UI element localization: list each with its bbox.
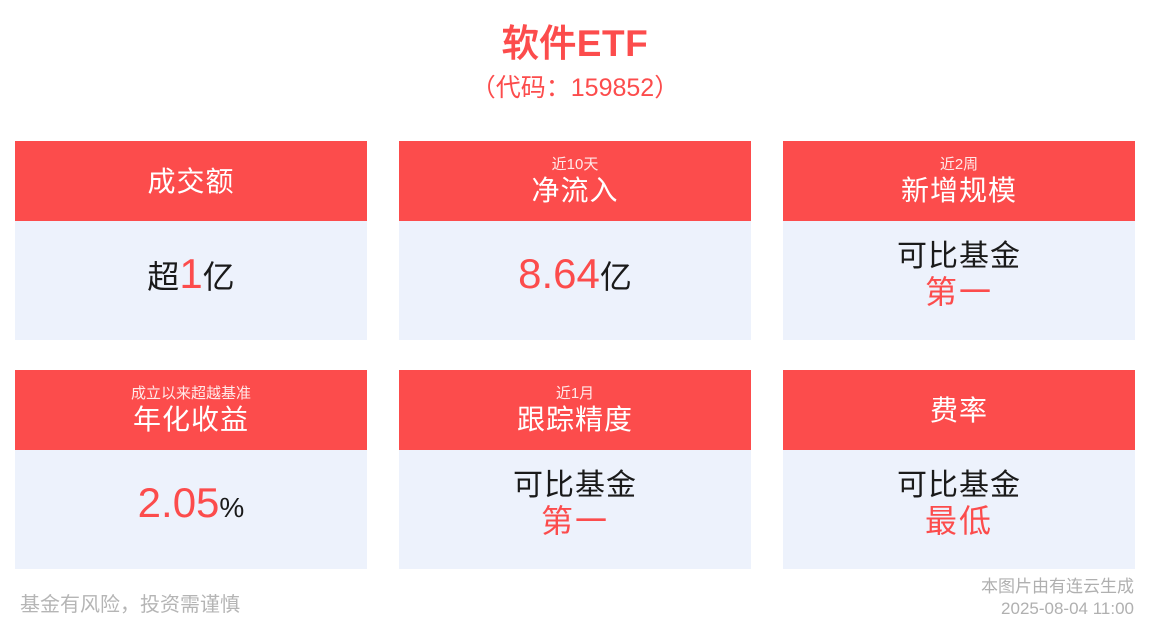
metric-headline: 跟踪精度 (517, 403, 633, 436)
metric-card-annualized-return: 成立以来超越基准 年化收益 2.05 % (15, 370, 367, 569)
metric-card-turnover: 成交额 超 1 亿 (15, 141, 367, 340)
metric-rank: 最低 (925, 503, 993, 539)
metric-card-new-scale: 近2周 新增规模 可比基金 第一 (783, 141, 1135, 340)
metric-value-suffix: % (219, 493, 244, 522)
metric-value: 2.05 (138, 481, 220, 525)
metric-card-body: 2.05 % (15, 450, 367, 569)
metric-value-suffix: 亿 (203, 261, 235, 295)
metric-card-header: 近1月 跟踪精度 (399, 370, 751, 450)
metric-kicker: 近2周 (940, 155, 978, 174)
metric-card-header: 近2周 新增规模 (783, 141, 1135, 221)
credit-timestamp: 2025-08-04 11:00 (981, 598, 1134, 620)
metric-card-fee-rate: 费率 可比基金 最低 (783, 370, 1135, 569)
metric-headline: 净流入 (531, 174, 618, 207)
footer: 基金有风险，投资需谨慎 本图片由有连云生成 2025-08-04 11:00 (0, 570, 1150, 632)
metric-value-line: 2.05 % (138, 481, 245, 525)
metric-rank: 第一 (925, 274, 993, 310)
metric-value-suffix: 亿 (600, 261, 632, 295)
metric-comparison-group: 可比基金 (513, 468, 637, 503)
metric-card-body: 超 1 亿 (15, 221, 367, 340)
metric-card-body: 8.64 亿 (399, 221, 751, 340)
metric-kicker: 近1月 (556, 384, 594, 403)
metric-card-header: 成立以来超越基准 年化收益 (15, 370, 367, 450)
metric-value: 1 (179, 252, 202, 296)
metric-headline: 新增规模 (901, 174, 1017, 207)
metric-card-grid: 成交额 超 1 亿 近10天 净流入 8.64 亿 近2周 新增规模 (15, 141, 1135, 569)
metric-value-line: 8.64 亿 (518, 252, 632, 296)
metric-card-header: 费率 (783, 370, 1135, 450)
metric-card-body: 可比基金 最低 (783, 450, 1135, 569)
fund-code: （代码：159852） (0, 72, 1150, 104)
metric-card-body: 可比基金 第一 (399, 450, 751, 569)
metric-comparison-group: 可比基金 (897, 468, 1021, 503)
metric-value: 8.64 (518, 252, 600, 296)
generation-credit: 本图片由有连云生成 2025-08-04 11:00 (981, 576, 1134, 620)
metric-card-tracking-accuracy: 近1月 跟踪精度 可比基金 第一 (399, 370, 751, 569)
metric-rank: 第一 (541, 503, 609, 539)
page-title-block: 软件ETF （代码：159852） (0, 0, 1150, 104)
metric-value-line: 超 1 亿 (147, 252, 234, 296)
metric-headline: 费率 (930, 394, 988, 427)
metric-card-body: 可比基金 第一 (783, 221, 1135, 340)
metric-card-header: 成交额 (15, 141, 367, 221)
metric-comparison-group: 可比基金 (897, 239, 1021, 274)
metric-card-header: 近10天 净流入 (399, 141, 751, 221)
risk-disclaimer: 基金有风险，投资需谨慎 (20, 592, 240, 620)
metric-kicker: 近10天 (552, 155, 599, 174)
credit-source: 本图片由有连云生成 (981, 576, 1134, 598)
metric-kicker: 成立以来超越基准 (131, 384, 251, 403)
metric-headline: 年化收益 (133, 403, 249, 436)
metric-value-prefix: 超 (147, 261, 179, 295)
page-title: 软件ETF (0, 22, 1150, 66)
metric-card-net-inflow: 近10天 净流入 8.64 亿 (399, 141, 751, 340)
metric-headline: 成交额 (147, 165, 234, 198)
